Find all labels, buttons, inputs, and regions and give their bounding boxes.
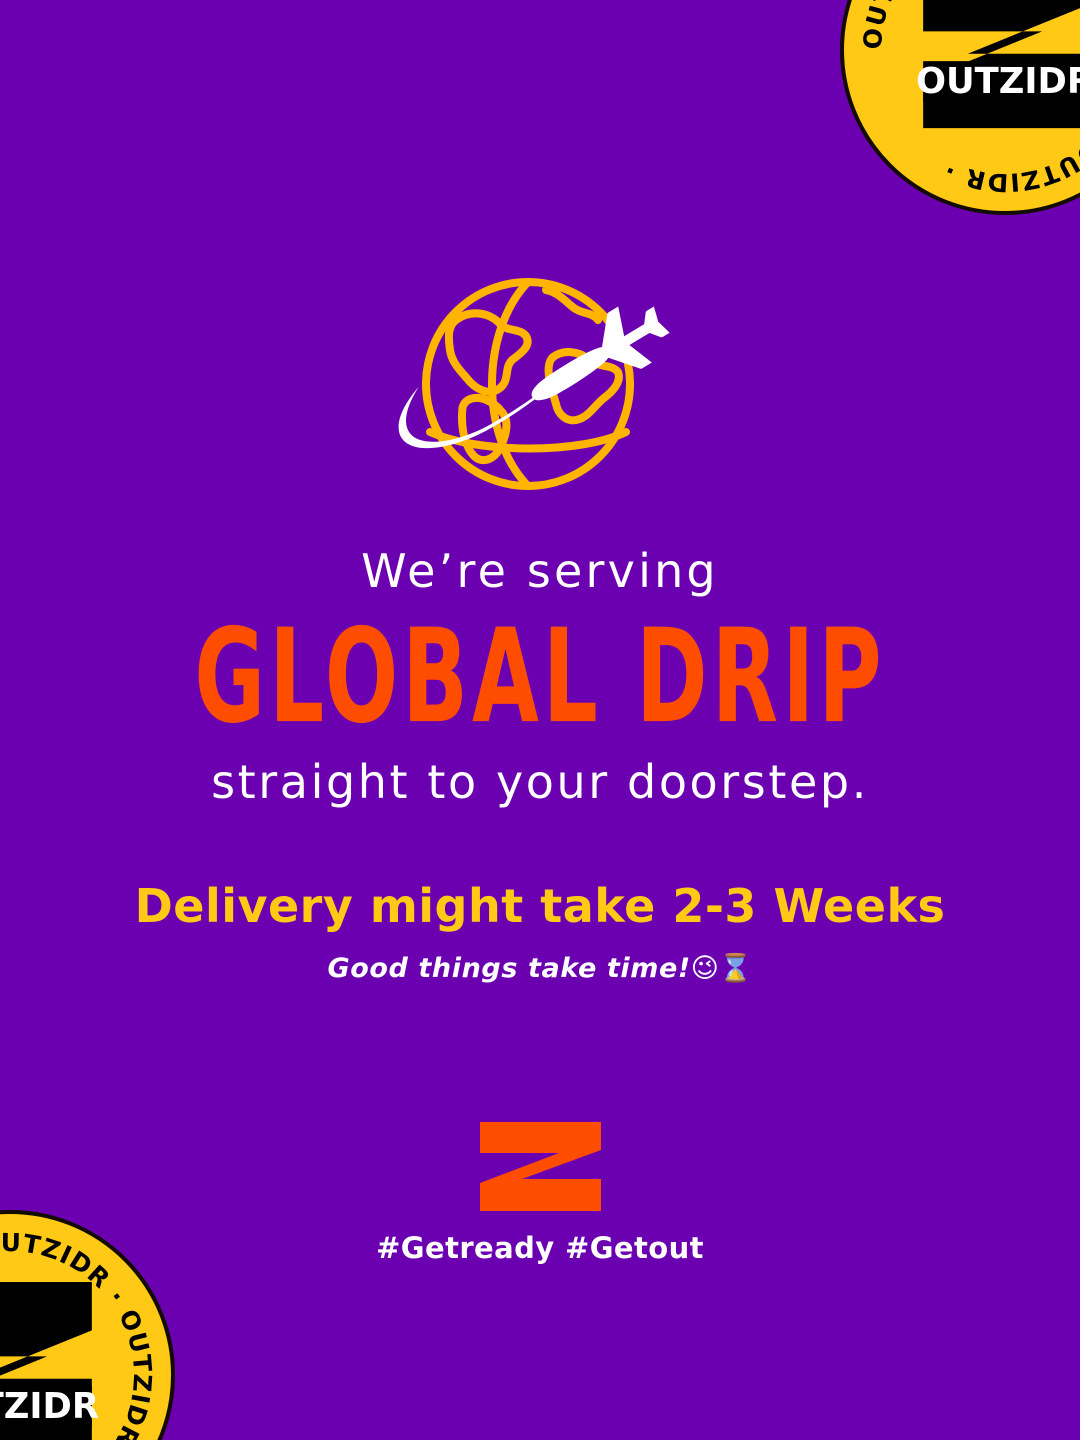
- badge-top-right: OUTZIDR · OUTZIDR · OUTZIDR · OUTZIDR · …: [840, 0, 1080, 215]
- brand-z-logo: [478, 1120, 603, 1213]
- headline-eyebrow: We’re serving: [0, 545, 1080, 598]
- headline-subline: straight to your doorstep.: [0, 755, 1080, 809]
- badge-wordmark-top-right: OUTZIDR: [916, 61, 1080, 102]
- footer-hashtags: #Getready #Getout: [0, 1231, 1080, 1265]
- badge-z-monogram-bottom-left: OUTZIDR: [0, 1275, 103, 1440]
- badge-z-monogram-top-right: OUTZIDR: [912, 0, 1080, 136]
- delivery-note: Delivery might take 2-3 Weeks: [0, 879, 1080, 933]
- globe-airplane-illustration: [360, 272, 720, 512]
- globe-icon: [426, 282, 630, 486]
- footer-block: #Getready #Getout: [0, 1120, 1080, 1265]
- badge-wordmark-bottom-left: OUTZIDR: [0, 1386, 99, 1427]
- headline-main: GLOBAL DRIP: [0, 608, 1080, 748]
- poster-canvas: OUTZIDR · OUTZIDR · OUTZIDR · OUTZIDR · …: [0, 0, 1080, 1440]
- delivery-subnote-text: Good things take time!: [327, 953, 690, 984]
- copy-block: We’re serving GLOBAL DRIP straight to yo…: [0, 545, 1080, 984]
- wink-hourglass-emoji: 😉⌛: [691, 953, 753, 984]
- delivery-subnote: Good things take time!😉⌛: [0, 952, 1080, 984]
